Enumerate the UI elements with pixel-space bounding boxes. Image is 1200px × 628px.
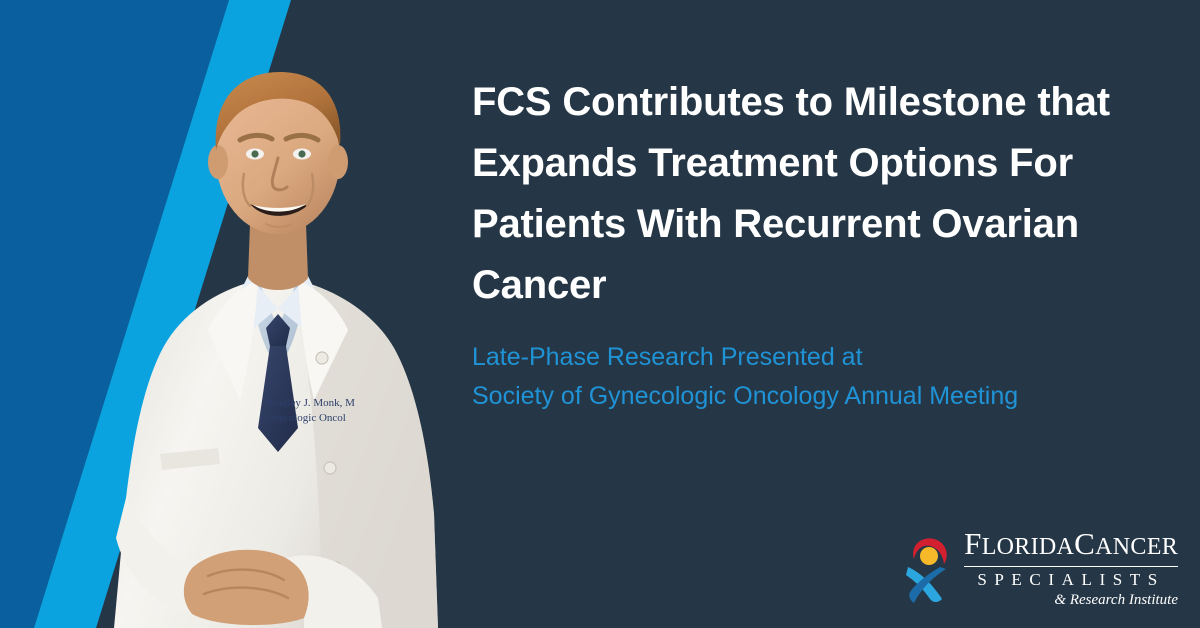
logo-divider-rule (964, 566, 1178, 567)
logo-line-florida-cancer: FLORIDACANCER (964, 527, 1178, 564)
subhead-line-1: Late-Phase Research Presented at (472, 338, 1152, 377)
logo-line-research-institute: & Research Institute (964, 589, 1178, 610)
announcement-banner: Bradley J. Monk, M Gynecologic Oncol FCS… (0, 0, 1200, 628)
logo-line-specialists: SPECIALISTS (964, 570, 1178, 589)
text-block: FCS Contributes to Milestone that Expand… (472, 72, 1152, 416)
florida-cancer-specialists-logo[interactable]: FLORIDACANCER SPECIALISTS & Research Ins… (902, 527, 1178, 610)
coat-embroidery-name: Bradley J. Monk, M (266, 397, 355, 409)
fcs-figure-mark-icon (902, 533, 954, 605)
coat-button (324, 462, 336, 474)
subhead: Late-Phase Research Presented at Society… (472, 316, 1152, 416)
logo-f-cap: F (964, 526, 982, 561)
physician-photo: Bradley J. Monk, M Gynecologic Oncol (108, 28, 448, 628)
logo-c-cap: C (1074, 526, 1095, 561)
coat-button (316, 352, 328, 364)
logo-ancer: ANCER (1095, 534, 1178, 560)
coat-embroidery-title: Gynecologic Oncol (260, 412, 346, 424)
logo-yellow-circle (920, 547, 938, 565)
logo-wordmark: FLORIDACANCER SPECIALISTS & Research Ins… (964, 527, 1178, 610)
headline: FCS Contributes to Milestone that Expand… (472, 72, 1152, 316)
logo-lorida: LORIDA (982, 534, 1074, 560)
subhead-line-2: Society of Gynecologic Oncology Annual M… (472, 377, 1152, 416)
